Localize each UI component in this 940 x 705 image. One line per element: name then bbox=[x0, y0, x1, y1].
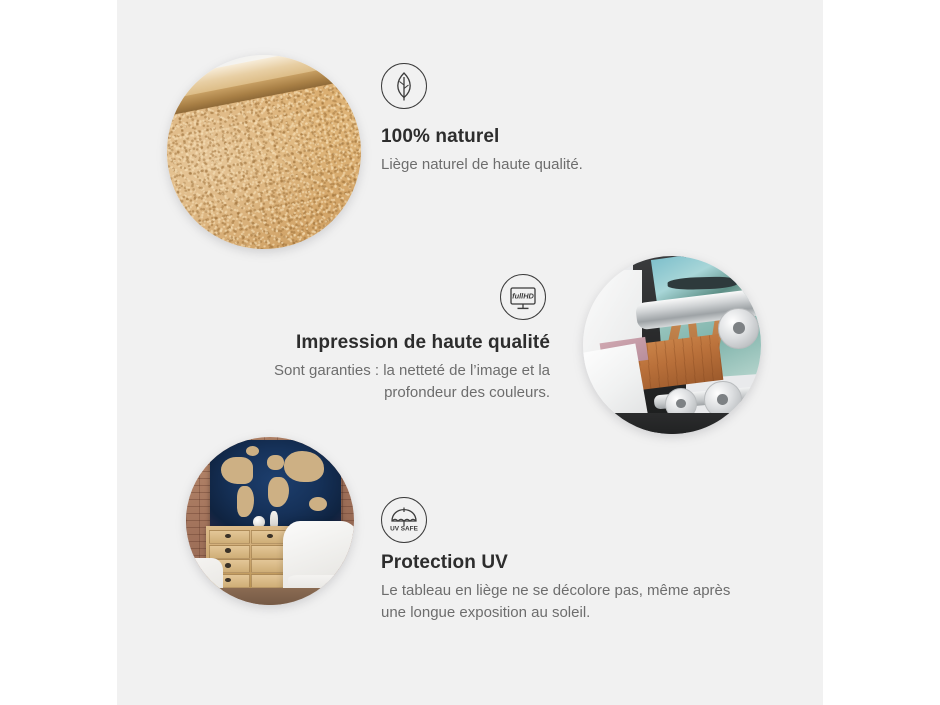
interior-floor bbox=[186, 588, 354, 605]
feature-body-print: Sont garanties : la netteté de l’image e… bbox=[232, 360, 550, 404]
continent-asia bbox=[284, 451, 323, 482]
uv-safe-umbrella-icon: UV SAFE bbox=[381, 497, 427, 543]
feature-text-print: Impression de haute qualité Sont garanti… bbox=[232, 332, 550, 404]
feature-headline-natural: 100% naturel bbox=[381, 126, 711, 148]
leaf-icon bbox=[381, 63, 427, 109]
feature-headline-uv: Protection UV bbox=[381, 552, 731, 574]
roller-end-disc bbox=[718, 308, 759, 349]
fullhd-monitor-icon: fullHD bbox=[500, 274, 546, 320]
print-photo-floor bbox=[583, 413, 761, 434]
continent-europe bbox=[267, 455, 284, 470]
continent-greenland bbox=[246, 446, 259, 456]
continent-africa bbox=[268, 477, 289, 508]
feature-body-natural: Liège naturel de haute qualité. bbox=[381, 154, 711, 176]
continent-north-america bbox=[221, 457, 252, 484]
continent-south-america bbox=[237, 486, 254, 517]
feature-body-uv: Le tableau en liège ne se décolore pas, … bbox=[381, 580, 731, 624]
printing-machine-photo bbox=[583, 256, 761, 434]
feature-text-uv: Protection UV Le tableau en liège ne se … bbox=[381, 552, 731, 624]
interior-world-map-photo bbox=[186, 437, 354, 605]
feature-text-natural: 100% naturel Liège naturel de haute qual… bbox=[381, 126, 711, 176]
svg-text:UV SAFE: UV SAFE bbox=[390, 526, 418, 533]
svg-text:fullHD: fullHD bbox=[512, 291, 534, 300]
product-feature-infographic: 100% naturel Liège naturel de haute qual… bbox=[0, 0, 940, 705]
cork-texture-photo bbox=[167, 55, 361, 249]
feature-headline-print: Impression de haute qualité bbox=[232, 332, 550, 354]
continent-australia bbox=[309, 497, 327, 512]
